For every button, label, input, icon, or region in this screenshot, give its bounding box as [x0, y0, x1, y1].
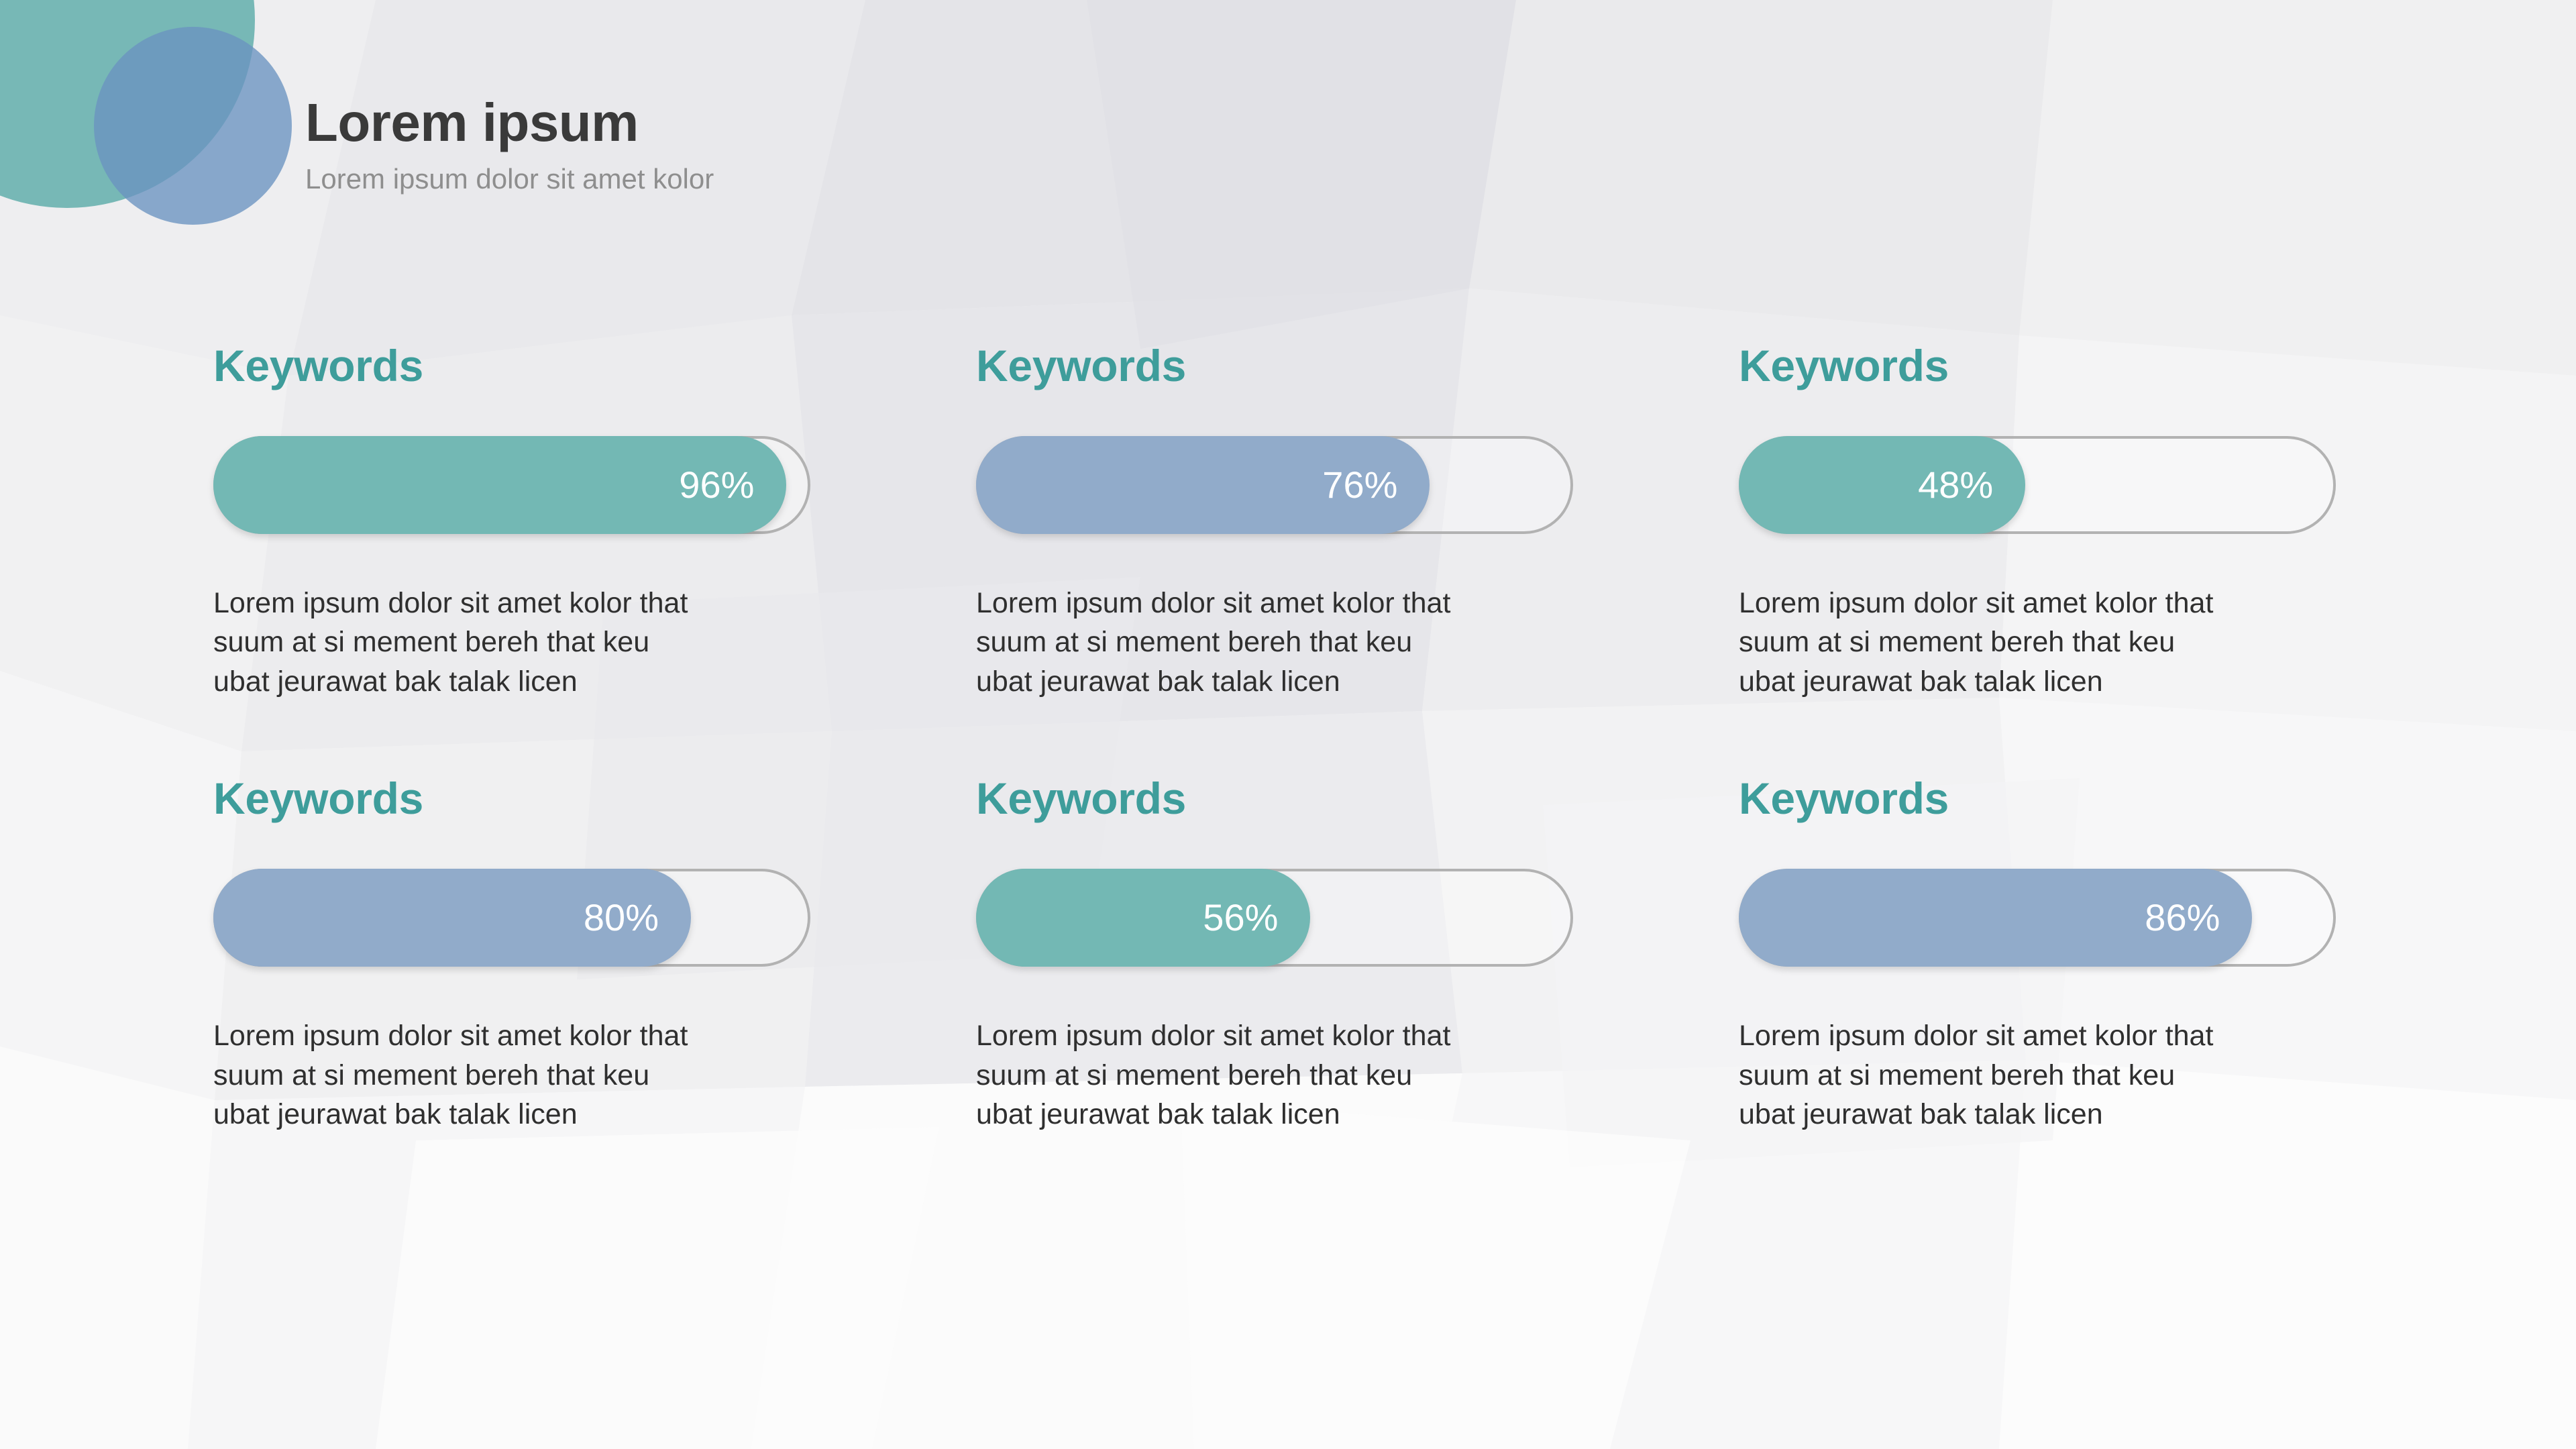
card-title: Keywords — [1739, 776, 2336, 820]
progress-value-label: 48% — [1918, 466, 2025, 504]
card-title: Keywords — [976, 343, 1573, 388]
card-body-text: Lorem ipsum dolor sit amet kolor that su… — [976, 1016, 1573, 1134]
progress-bar[interactable]: 80% — [213, 869, 810, 967]
keyword-card: Keywords 96% Lorem ipsum dolor sit amet … — [213, 343, 810, 701]
card-body-text: Lorem ipsum dolor sit amet kolor that su… — [1739, 584, 2336, 701]
progress-fill: 86% — [1739, 869, 2252, 967]
card-title: Keywords — [213, 776, 810, 820]
card-body-text: Lorem ipsum dolor sit amet kolor that su… — [1739, 1016, 2336, 1134]
page-subtitle: Lorem ipsum dolor sit amet kolor — [305, 162, 1244, 196]
progress-value-label: 56% — [1203, 899, 1310, 936]
progress-fill: 96% — [213, 436, 786, 534]
progress-value-label: 76% — [1322, 466, 1430, 504]
progress-bar[interactable]: 48% — [1739, 436, 2336, 534]
keyword-cards-grid: Keywords 96% Lorem ipsum dolor sit amet … — [213, 343, 2367, 1134]
keyword-card: Keywords 56% Lorem ipsum dolor sit amet … — [976, 776, 1573, 1134]
keyword-card: Keywords 80% Lorem ipsum dolor sit amet … — [213, 776, 810, 1134]
progress-bar[interactable]: 96% — [213, 436, 810, 534]
header: Lorem ipsum Lorem ipsum dolor sit amet k… — [305, 94, 1244, 197]
progress-value-label: 80% — [584, 899, 691, 936]
progress-value-label: 96% — [679, 466, 786, 504]
card-title: Keywords — [1739, 343, 2336, 388]
progress-bar[interactable]: 86% — [1739, 869, 2336, 967]
slide-canvas: Lorem ipsum Lorem ipsum dolor sit amet k… — [0, 0, 2576, 1449]
page-title: Lorem ipsum — [305, 94, 1244, 152]
progress-fill: 56% — [976, 869, 1310, 967]
keyword-card: Keywords 76% Lorem ipsum dolor sit amet … — [976, 343, 1573, 701]
progress-bar[interactable]: 76% — [976, 436, 1573, 534]
progress-value-label: 86% — [2145, 899, 2252, 936]
logo-blue-circle — [94, 27, 292, 225]
card-title: Keywords — [213, 343, 810, 388]
progress-fill: 80% — [213, 869, 691, 967]
progress-bar[interactable]: 56% — [976, 869, 1573, 967]
card-title: Keywords — [976, 776, 1573, 820]
card-body-text: Lorem ipsum dolor sit amet kolor that su… — [213, 584, 810, 701]
keyword-card: Keywords 48% Lorem ipsum dolor sit amet … — [1739, 343, 2336, 701]
card-body-text: Lorem ipsum dolor sit amet kolor that su… — [213, 1016, 810, 1134]
progress-fill: 76% — [976, 436, 1430, 534]
card-body-text: Lorem ipsum dolor sit amet kolor that su… — [976, 584, 1573, 701]
keyword-card: Keywords 86% Lorem ipsum dolor sit amet … — [1739, 776, 2336, 1134]
logo — [0, 0, 309, 262]
progress-fill: 48% — [1739, 436, 2025, 534]
